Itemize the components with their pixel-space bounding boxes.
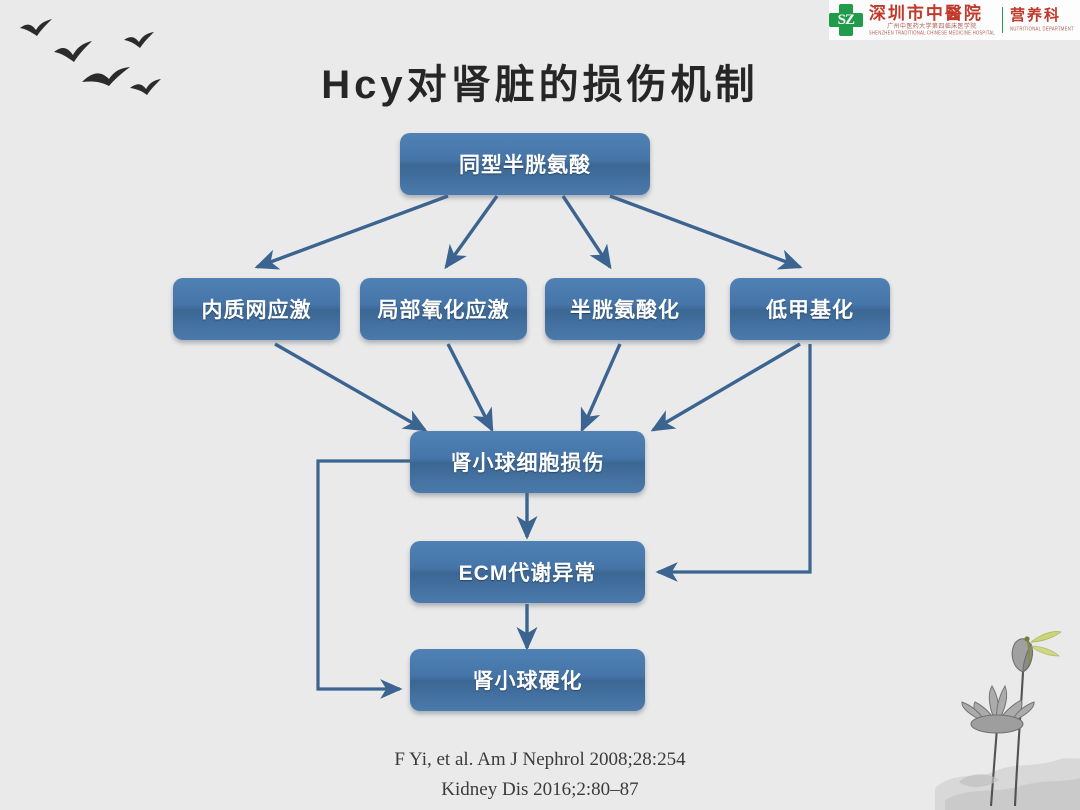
hospital-logo: SZ 深圳市中醫院 广州中医药大学第四临床医学院 SHENZHEN TRADIT… [829,0,1080,40]
flow-node-cysteinylation[interactable]: 半胱氨酸化 [545,278,705,340]
citation-line: F Yi, et al. Am J Nephrol 2008;28:254 [0,745,1080,775]
hospital-cross-icon: SZ [829,4,863,36]
flow-node-label: ECM代谢异常 [459,557,597,587]
flow-node-label: 半胱氨酸化 [570,294,680,324]
logo-divider [1002,7,1003,33]
flow-node-er-stress[interactable]: 内质网应激 [173,278,340,340]
flow-node-oxidative-stress[interactable]: 局部氧化应激 [360,278,527,340]
flow-node-label: 局部氧化应激 [378,294,510,324]
flow-node-ecm-metabolism[interactable]: ECM代谢异常 [410,541,645,603]
slide-canvas: SZ 深圳市中醫院 广州中医药大学第四临床医学院 SHENZHEN TRADIT… [0,0,1080,810]
flow-node-label: 内质网应激 [202,294,312,324]
flow-node-glomerulosclerosis[interactable]: 肾小球硬化 [410,649,645,711]
logo-department-en: NUTRITIONAL DEPARTMENT [1010,26,1074,31]
flow-node-hcy[interactable]: 同型半胱氨酸 [400,133,650,195]
flow-node-label: 低甲基化 [766,294,854,324]
flow-node-label: 肾小球细胞损伤 [451,447,605,477]
page-title: Hcy对肾脏的损伤机制 [0,52,1080,110]
logo-hospital-name-cn: 深圳市中醫院 [869,5,995,22]
logo-department-cn: 营养科 [1010,9,1074,24]
feedback-loop-right [658,344,810,572]
flow-node-glomerular-cell-injury[interactable]: 肾小球细胞损伤 [410,431,645,493]
flow-node-hypomethylation[interactable]: 低甲基化 [730,278,890,340]
flow-node-label: 同型半胱氨酸 [459,149,591,179]
feedback-loop-left [318,461,412,689]
logo-hospital-name-en: SHENZHEN TRADITIONAL CHINESE MEDICINE HO… [869,31,995,36]
flow-node-label: 肾小球硬化 [473,665,583,695]
citation-block: F Yi, et al. Am J Nephrol 2008;28:254 Ki… [0,745,1080,805]
logo-mark-text: SZ [829,4,863,36]
citation-line: Kidney Dis 2016;2:80–87 [0,775,1080,805]
